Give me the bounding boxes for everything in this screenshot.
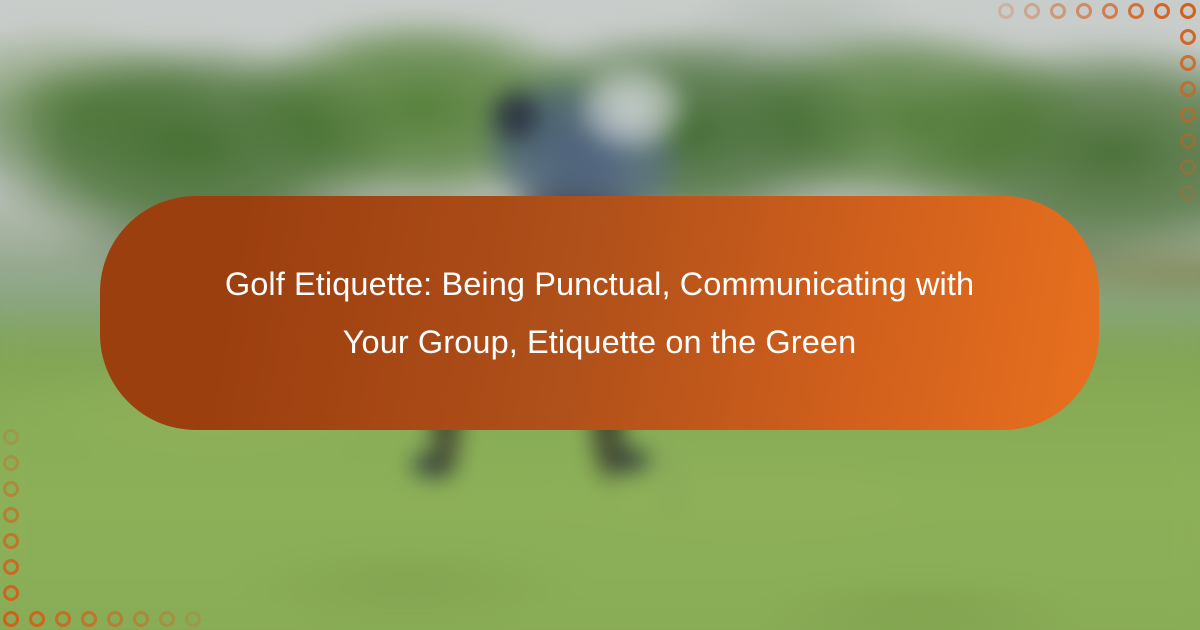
- social-share-card: Golf Etiquette: Being Punctual, Communic…: [0, 0, 1200, 630]
- title-card: Golf Etiquette: Being Punctual, Communic…: [100, 196, 1099, 430]
- page-title: Golf Etiquette: Being Punctual, Communic…: [205, 255, 995, 371]
